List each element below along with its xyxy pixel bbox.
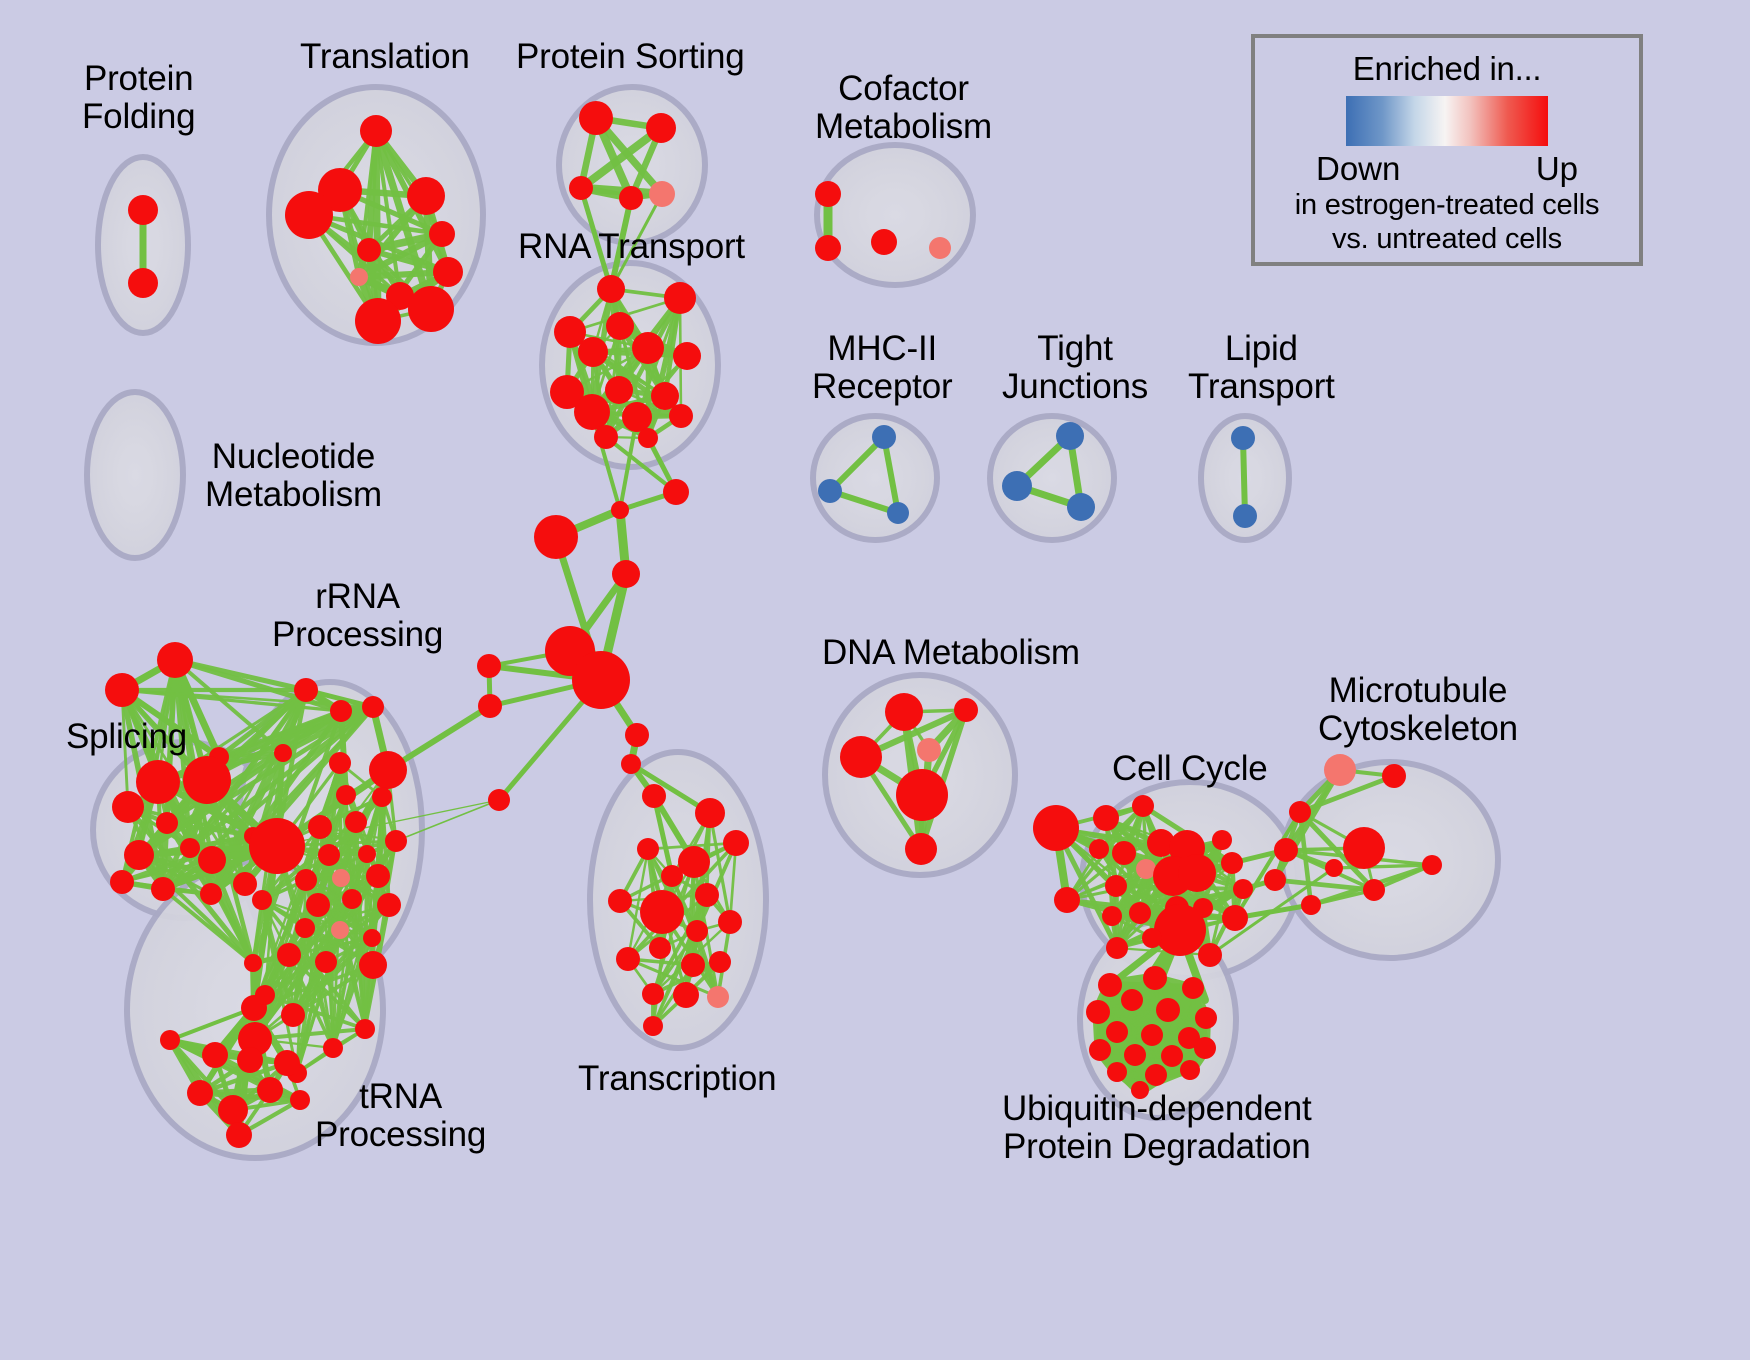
network-node[interactable] (637, 838, 659, 860)
enrichment-map-figure: Protein FoldingTranslationProtein Sortin… (0, 0, 1750, 1360)
network-node[interactable] (350, 268, 368, 286)
legend-down-label: Down (1316, 150, 1400, 188)
network-node[interactable] (1002, 471, 1032, 501)
network-node[interactable] (377, 893, 401, 917)
network-node[interactable] (872, 425, 896, 449)
network-node[interactable] (638, 428, 658, 448)
network-node[interactable] (1098, 973, 1122, 997)
network-node[interactable] (329, 752, 351, 774)
network-node[interactable] (709, 951, 731, 973)
network-node[interactable] (1274, 838, 1298, 862)
network-node[interactable] (611, 501, 629, 519)
network-node[interactable] (408, 286, 454, 332)
network-node[interactable] (360, 115, 392, 147)
cluster-label-dna-metabolism: DNA Metabolism (822, 634, 1080, 672)
legend-color-gradient-bar (1346, 96, 1548, 146)
network-node[interactable] (1132, 795, 1154, 817)
network-node[interactable] (385, 830, 407, 852)
network-node[interactable] (160, 1030, 180, 1050)
network-node[interactable] (681, 953, 705, 977)
network-node[interactable] (686, 920, 708, 942)
network-node[interactable] (616, 947, 640, 971)
network-node[interactable] (358, 845, 376, 863)
network-node[interactable] (673, 982, 699, 1008)
network-node[interactable] (362, 696, 384, 718)
network-node[interactable] (1156, 998, 1180, 1022)
network-node[interactable] (1121, 989, 1143, 1011)
network-node[interactable] (1067, 493, 1095, 521)
cluster-ellipse-nucleotide (87, 392, 183, 558)
network-node[interactable] (578, 337, 608, 367)
network-node[interactable] (1107, 1062, 1127, 1082)
network-node[interactable] (917, 738, 941, 762)
network-node[interactable] (606, 312, 634, 340)
network-node[interactable] (622, 402, 652, 432)
network-node[interactable] (257, 1077, 283, 1103)
legend-subtitle-line-2: vs. untreated cells (1332, 223, 1562, 256)
network-node[interactable] (112, 791, 144, 823)
network-node[interactable] (574, 394, 610, 430)
network-node[interactable] (1363, 879, 1385, 901)
cluster-label-lipid-transport: Lipid Transport (1188, 330, 1335, 406)
network-node[interactable] (306, 893, 330, 917)
network-node[interactable] (643, 1016, 663, 1036)
network-node[interactable] (1054, 887, 1080, 913)
network-node[interactable] (357, 238, 381, 262)
cluster-label-microtubule: Microtubule Cytoskeleton (1318, 672, 1518, 748)
network-node[interactable] (202, 1042, 228, 1068)
network-node[interactable] (233, 872, 257, 896)
network-node[interactable] (1233, 879, 1253, 899)
network-node[interactable] (1301, 895, 1321, 915)
network-node[interactable] (290, 1090, 310, 1110)
network-node[interactable] (237, 1047, 263, 1073)
network-node[interactable] (372, 787, 392, 807)
network-node[interactable] (407, 177, 445, 215)
cluster-label-protein-sorting: Protein Sorting (516, 38, 745, 76)
network-node[interactable] (1089, 1039, 1111, 1061)
network-node[interactable] (244, 954, 262, 972)
cluster-label-transcription: Transcription (578, 1060, 776, 1098)
network-node[interactable] (1129, 902, 1151, 924)
network-node[interactable] (818, 479, 842, 503)
network-node[interactable] (594, 425, 618, 449)
cluster-label-translation: Translation (300, 38, 470, 76)
network-node[interactable] (695, 883, 719, 907)
network-node[interactable] (274, 1050, 300, 1076)
network-node[interactable] (294, 678, 318, 702)
network-node[interactable] (366, 864, 390, 888)
network-node[interactable] (429, 221, 455, 247)
network-node[interactable] (488, 789, 510, 811)
network-node[interactable] (673, 342, 701, 370)
network-node[interactable] (295, 918, 315, 938)
network-node[interactable] (649, 937, 671, 959)
network-node[interactable] (363, 929, 381, 947)
network-node[interactable] (255, 985, 275, 1005)
network-node[interactable] (649, 181, 675, 207)
network-node[interactable] (597, 275, 625, 303)
network-node[interactable] (318, 844, 340, 866)
network-node[interactable] (323, 1038, 343, 1058)
cluster-label-tight-junctions: Tight Junctions (1002, 330, 1148, 406)
network-node[interactable] (1112, 841, 1136, 865)
network-node[interactable] (1382, 764, 1406, 788)
network-node[interactable] (642, 784, 666, 808)
network-node[interactable] (669, 404, 693, 428)
network-node[interactable] (1143, 966, 1167, 990)
network-node[interactable] (723, 830, 749, 856)
network-node[interactable] (612, 560, 640, 588)
network-node[interactable] (896, 769, 948, 821)
cluster-ellipse-cofactor (817, 145, 973, 285)
network-node[interactable] (1180, 1060, 1200, 1080)
network-node[interactable] (295, 869, 317, 891)
network-node[interactable] (1198, 943, 1222, 967)
network-node[interactable] (1221, 852, 1243, 874)
network-node[interactable] (369, 751, 407, 789)
network-node[interactable] (1195, 1007, 1217, 1029)
network-node[interactable] (678, 846, 710, 878)
network-node[interactable] (332, 869, 350, 887)
network-node[interactable] (664, 282, 696, 314)
network-node[interactable] (110, 870, 134, 894)
network-node[interactable] (157, 642, 193, 678)
network-node[interactable] (534, 515, 578, 559)
network-node[interactable] (569, 176, 593, 200)
network-node[interactable] (355, 298, 401, 344)
network-node[interactable] (1289, 801, 1311, 823)
network-node[interactable] (345, 811, 367, 833)
network-node[interactable] (605, 376, 633, 404)
cluster-label-cofactor: Cofactor Metabolism (815, 70, 992, 146)
network-node[interactable] (840, 736, 882, 778)
network-node[interactable] (281, 1003, 305, 1027)
network-node[interactable] (572, 651, 630, 709)
network-node[interactable] (642, 983, 664, 1005)
network-node[interactable] (1142, 928, 1162, 948)
network-node[interactable] (695, 798, 725, 828)
network-node[interactable] (478, 694, 502, 718)
legend-subtitle-line-1: in estrogen-treated cells (1295, 189, 1600, 222)
network-node[interactable] (136, 760, 180, 804)
network-node[interactable] (105, 673, 139, 707)
network-node[interactable] (1422, 855, 1442, 875)
network-node[interactable] (355, 1019, 375, 1039)
network-node[interactable] (1154, 904, 1206, 956)
network-node[interactable] (200, 883, 222, 905)
network-node[interactable] (885, 693, 923, 731)
legend-up-label: Up (1536, 150, 1578, 188)
cluster-label-cell-cycle: Cell Cycle (1112, 750, 1268, 788)
network-node[interactable] (1231, 426, 1255, 450)
network-node[interactable] (1325, 859, 1343, 877)
network-node[interactable] (342, 889, 362, 909)
network-node[interactable] (433, 257, 463, 287)
cluster-label-rrna: rRNA Processing (272, 578, 443, 654)
network-node[interactable] (1324, 754, 1356, 786)
network-node[interactable] (277, 943, 301, 967)
network-node[interactable] (187, 1080, 213, 1106)
network-node[interactable] (1106, 937, 1128, 959)
network-node[interactable] (180, 838, 200, 858)
network-node[interactable] (274, 744, 292, 762)
network-node[interactable] (579, 101, 613, 135)
cluster-label-splicing: Splicing (66, 718, 187, 756)
network-node[interactable] (905, 833, 937, 865)
network-node[interactable] (815, 181, 841, 207)
network-node[interactable] (359, 951, 387, 979)
network-node[interactable] (1182, 977, 1204, 999)
network-node[interactable] (330, 700, 352, 722)
network-node[interactable] (198, 846, 226, 874)
network-node[interactable] (1145, 1064, 1167, 1086)
network-node[interactable] (1056, 422, 1084, 450)
network-node[interactable] (331, 921, 349, 939)
cluster-label-protein-folding: Protein Folding (82, 60, 195, 136)
network-node[interactable] (1343, 827, 1385, 869)
network-node[interactable] (619, 186, 643, 210)
cluster-label-ubiquitin: Ubiquitin-dependent Protein Degradation (1002, 1090, 1312, 1166)
network-node[interactable] (156, 812, 178, 834)
network-node[interactable] (871, 229, 897, 255)
network-node[interactable] (929, 237, 951, 259)
network-node[interactable] (315, 951, 337, 973)
network-node[interactable] (226, 1122, 252, 1148)
network-node[interactable] (1105, 875, 1127, 897)
legend-end-labels: Down Up (1316, 150, 1578, 188)
network-node[interactable] (124, 840, 154, 870)
network-node[interactable] (1178, 854, 1216, 892)
network-node[interactable] (608, 889, 632, 913)
network-node[interactable] (128, 195, 158, 225)
network-node[interactable] (1089, 839, 1109, 859)
network-node[interactable] (718, 910, 742, 934)
network-node[interactable] (1194, 1037, 1216, 1059)
network-node[interactable] (663, 479, 689, 505)
network-node[interactable] (954, 698, 978, 722)
network-node[interactable] (646, 113, 676, 143)
network-node[interactable] (1124, 1044, 1146, 1066)
legend: Enriched in... Down Up in estrogen-treat… (1251, 34, 1643, 266)
network-node[interactable] (1102, 906, 1122, 926)
network-node[interactable] (1093, 805, 1119, 831)
network-node[interactable] (707, 986, 729, 1008)
network-node[interactable] (887, 502, 909, 524)
legend-title: Enriched in... (1353, 50, 1541, 88)
network-node[interactable] (183, 756, 231, 804)
cluster-label-nucleotide: Nucleotide Metabolism (205, 438, 382, 514)
network-node[interactable] (252, 890, 272, 910)
cluster-label-mhc2: MHC-II Receptor (812, 330, 952, 406)
network-node[interactable] (815, 235, 841, 261)
cluster-label-rna-transport: RNA Transport (518, 228, 745, 266)
cluster-label-trna: tRNA Processing (315, 1078, 486, 1154)
network-node[interactable] (1233, 504, 1257, 528)
network-node[interactable] (1264, 869, 1286, 891)
network-node[interactable] (218, 1095, 248, 1125)
network-node[interactable] (249, 818, 305, 874)
network-node[interactable] (632, 332, 664, 364)
network-node[interactable] (128, 268, 158, 298)
network-node[interactable] (1222, 905, 1248, 931)
network-node[interactable] (1086, 1000, 1110, 1024)
network-node[interactable] (640, 890, 684, 934)
network-node[interactable] (477, 654, 501, 678)
network-node[interactable] (1141, 1024, 1163, 1046)
network-node[interactable] (621, 754, 641, 774)
network-node[interactable] (308, 815, 332, 839)
network-node[interactable] (1033, 805, 1079, 851)
network-node[interactable] (336, 785, 356, 805)
network-node[interactable] (151, 877, 175, 901)
network-node[interactable] (285, 191, 333, 239)
network-node[interactable] (1106, 1021, 1128, 1043)
network-node[interactable] (1212, 830, 1232, 850)
network-node[interactable] (625, 723, 649, 747)
network-node[interactable] (1161, 1045, 1183, 1067)
